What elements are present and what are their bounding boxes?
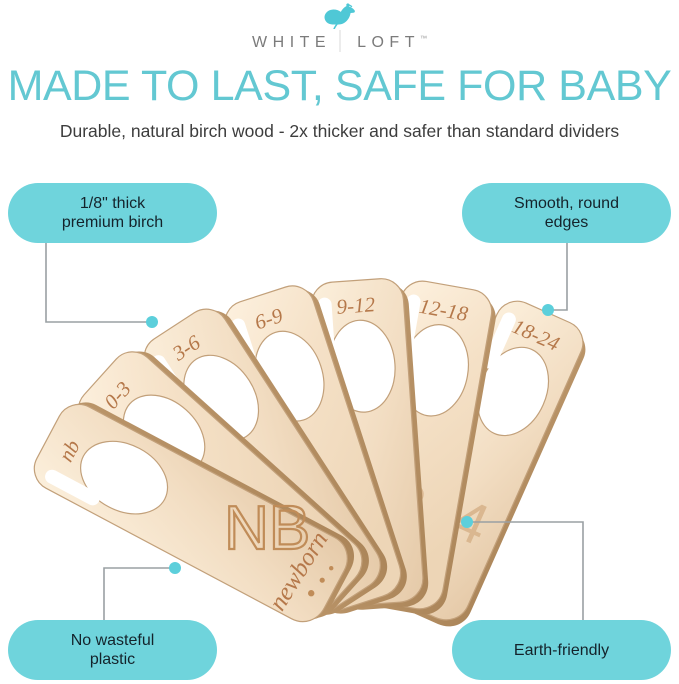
engraved-size-label: 9-12 xyxy=(336,292,377,319)
callout-line-2: edges xyxy=(545,214,589,231)
callout-line-2: plastic xyxy=(90,651,135,668)
engraved-dot xyxy=(308,590,314,596)
callout-earth-friendly: Earth-friendly xyxy=(452,620,671,680)
callout-line-1: No wasteful xyxy=(71,632,155,649)
callout-line-1: 1/8" thick xyxy=(80,195,145,212)
callout-smooth-edges: Smooth, round edges xyxy=(462,183,671,243)
callout-line-1: Smooth, round xyxy=(514,195,619,212)
callout-premium-birch: 1/8" thick premium birch xyxy=(8,183,217,243)
engraved-dot xyxy=(329,566,333,570)
callout-no-plastic: No wasteful plastic xyxy=(8,620,217,680)
product-image: 18-24 24 12-18 8 9-12 6-9 xyxy=(0,0,679,684)
engraved-dot xyxy=(320,578,325,583)
divider-fan: 18-24 24 12-18 8 9-12 6-9 xyxy=(13,277,595,661)
callout-line-2: premium birch xyxy=(62,214,163,231)
callout-line-1: Earth-friendly xyxy=(514,641,609,660)
